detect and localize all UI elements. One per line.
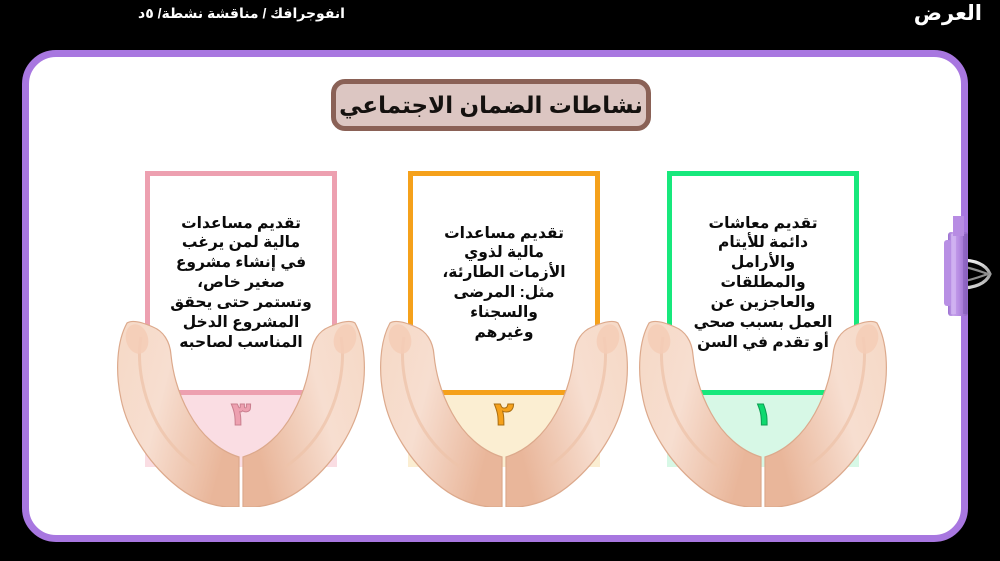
card-number-2: ٢ — [408, 395, 600, 445]
heading-banner-label: نشاطات الضمان الاجتماعي — [339, 94, 643, 117]
card-note-3: تقديم مساعدات مالية لمن يرغب في إنشاء مش… — [145, 171, 337, 395]
card-group-2[interactable]: تقديم مساعدات مالية لذوي الأزمات الطارئة… — [374, 157, 634, 507]
heading-banner: نشاطات الضمان الاجتماعي — [331, 79, 651, 131]
card-note-1: تقديم معاشات دائمة للأيتام والأرامل والم… — [667, 171, 859, 395]
card-group-3[interactable]: تقديم مساعدات مالية لمن يرغب في إنشاء مش… — [111, 157, 371, 507]
card-number-1: ١ — [667, 395, 859, 445]
activity-subtitle: انفوجرافك / مناقشة نشطة/ ٥د — [138, 5, 345, 22]
presentation-title: العرض — [914, 1, 982, 26]
card-group-1[interactable]: تقديم معاشات دائمة للأيتام والأرامل والم… — [633, 157, 893, 507]
card-note-text-2: تقديم مساعدات مالية لذوي الأزمات الطارئة… — [442, 224, 565, 343]
card-number-3: ٣ — [145, 395, 337, 445]
slide-stage: العرض انفوجرافك / مناقشة نشطة/ ٥د نشاطات… — [0, 0, 1000, 561]
binder-clip-icon — [942, 216, 998, 332]
card-note-2: تقديم مساعدات مالية لذوي الأزمات الطارئة… — [408, 171, 600, 395]
card-note-text-1: تقديم معاشات دائمة للأيتام والأرامل والم… — [694, 214, 833, 353]
card-note-text-3: تقديم مساعدات مالية لمن يرغب في إنشاء مش… — [170, 214, 312, 353]
top-bar: العرض انفوجرافك / مناقشة نشطة/ ٥د — [0, 0, 1000, 36]
slide-frame: نشاطات الضمان الاجتماعي تقديم مساعدات ما… — [22, 50, 968, 542]
